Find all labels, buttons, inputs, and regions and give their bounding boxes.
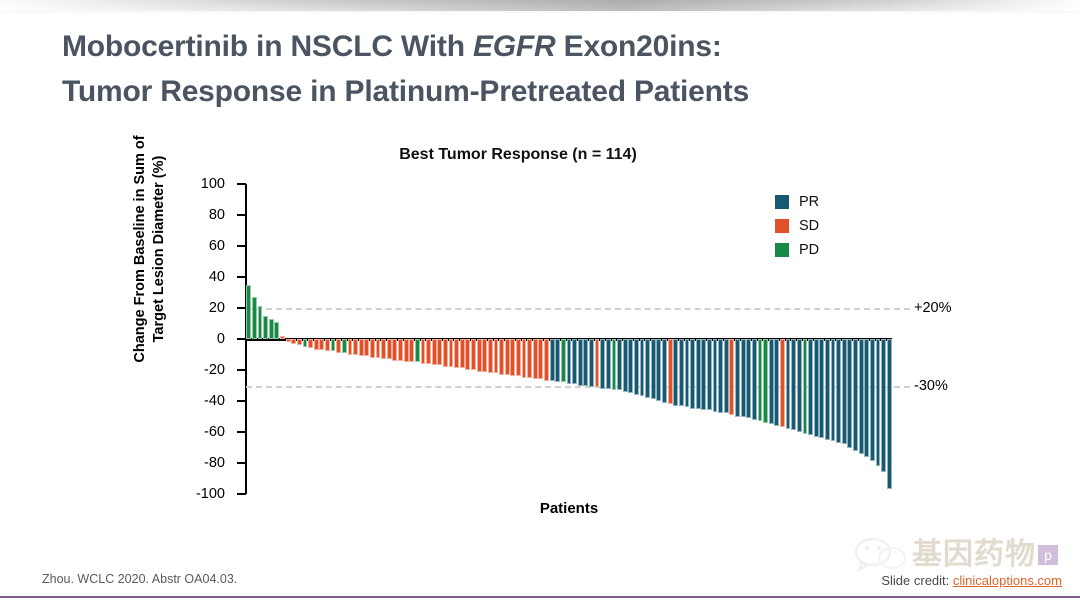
top-shadow [0,0,1080,14]
slide-credit-prefix: Slide credit: [881,573,953,588]
bar-sd [544,339,549,381]
y-tick-label: -60 [204,424,225,440]
bar-sd [668,339,673,404]
bar-pd [561,339,566,382]
legend-swatch [775,243,789,257]
bar-sd [471,339,476,370]
bar-sd [729,339,734,415]
citation: Zhou. WCLC 2020. Abstr OA04.03. [42,572,237,586]
bar-pr [814,339,819,437]
bar-sd [421,339,426,364]
y-axis-title: Change From Baseline in Sum of Target Le… [131,84,169,414]
bar-pr [555,339,560,382]
bar-pd [303,339,308,347]
legend-label: PR [799,194,819,210]
bar-pd [758,339,763,421]
bar-pr [864,339,869,457]
bar-pr [741,339,746,417]
y-tick: -40 [237,400,246,402]
bar-pr [572,339,577,384]
legend-item: SD [775,216,819,236]
y-tick-label: 100 [201,176,225,192]
bar-sd [297,339,302,345]
bar-sd [527,339,532,378]
reference-line-label: +20% [914,300,952,316]
slide: Mobocertinib in NSCLC With EGFR Exon20in… [0,0,1080,608]
y-tick: -80 [237,462,246,464]
bar-pd [342,339,347,353]
bar-pd [415,339,420,362]
bar-sd [348,339,353,355]
bar-sd [336,339,341,353]
bar-sd [510,339,515,376]
y-tick-label: 60 [209,238,225,254]
bar-sd [319,339,324,350]
bar-sd [460,339,465,368]
wechat-glyph [854,538,908,572]
bar-pr [842,339,847,444]
bar-pr [656,339,661,401]
bar-pd [274,322,279,339]
bar-sd [432,339,437,365]
bar-sd [359,339,364,356]
bar-pr [583,339,588,386]
bar-pr [690,339,695,409]
bar-pr [724,339,729,413]
watermark: 基因药物p [854,538,1058,572]
footer-divider [0,596,1080,599]
y-tick: -60 [237,431,246,433]
bar-pr [887,339,892,489]
legend-label: PD [799,242,819,258]
bar-sd [477,339,482,372]
bar-pr [567,339,572,384]
bar-sd [505,339,510,375]
bar-pd [258,306,263,339]
y-tick-label: -40 [204,393,225,409]
y-tick: 60 [237,245,246,247]
y-tick-label: 80 [209,207,225,223]
bar-pr [617,339,622,390]
bar-sd [314,339,319,350]
bar-pr [685,339,690,407]
bar-pr [628,339,633,393]
bar-pr [645,339,650,398]
bar-sd [376,339,381,358]
bar-sd [488,339,493,373]
bar-sd [437,339,442,365]
bar-sd [353,339,358,355]
bar-pr [853,339,858,451]
y-axis-title-line-2: Target Lesion Diameter (%) [150,84,169,414]
bar-pr [746,339,751,418]
legend-swatch [775,219,789,233]
bar-pr [707,339,712,410]
legend-swatch [775,195,789,209]
bar-sd [780,339,785,427]
wechat-icon [854,538,908,572]
bar-pr [578,339,583,386]
chart-title-text: Best Tumor Response (n = 114) [399,146,637,164]
bar-pd [612,339,617,390]
bar-pr [600,339,605,389]
y-tick: 80 [237,214,246,216]
bar-sd [308,339,313,348]
bar-pr [589,339,594,387]
bar-pr [718,339,723,413]
bar-pr [606,339,611,389]
bar-sd [381,339,386,359]
bar-sd [465,339,470,370]
bar-sd [482,339,487,372]
y-tick: 20 [237,307,246,309]
y-tick: -100 [237,493,246,495]
y-tick: -20 [237,369,246,371]
bar-sd [516,339,521,376]
y-tick: 100 [237,183,246,185]
bar-pr [701,339,706,410]
bar-pr [797,339,802,432]
bar-sd [398,339,403,361]
legend-item: PR [775,192,819,212]
bar-pr [836,339,841,443]
legend-label: SD [799,218,819,234]
title-gene-emphasis: EGFR [473,30,556,63]
y-axis-title-line-1: Change From Baseline in Sum of [131,84,150,414]
bar-pd [803,339,808,434]
bar-pr [825,339,830,440]
bar-pr [876,339,881,466]
bar-pr [881,339,886,472]
legend-item: PD [775,240,819,260]
bar-pd [763,339,768,423]
bar-pd [269,319,274,339]
chart-legend: PRSDPD [775,192,819,264]
watermark-text: 基因药物 [912,540,1036,570]
bar-sd [499,339,504,375]
bar-sd [325,339,330,351]
title-line-1: Mobocertinib in NSCLC With EGFR Exon20in… [62,24,1022,69]
bar-sd [370,339,375,358]
bar-sd [404,339,409,362]
bar-pd [252,297,257,339]
bar-pd [263,316,268,339]
bar-sd [494,339,499,373]
bar-pd [246,285,251,339]
bar-pr [774,339,779,426]
y-tick-label: -80 [204,455,225,471]
x-axis-title: Patients [246,500,892,517]
y-tick-label: 20 [209,300,225,316]
y-tick: 40 [237,276,246,278]
bar-pr [673,339,678,406]
page-title: Mobocertinib in NSCLC With EGFR Exon20in… [62,24,1022,114]
y-tick: 0 [237,338,246,340]
bar-pr [831,339,836,441]
y-tick-label: 40 [209,269,225,285]
y-tick-label: -20 [204,362,225,378]
bar-sd [392,339,397,361]
title-line-2: Tumor Response in Platinum-Pretreated Pa… [62,69,1022,114]
watermark-badge: p [1038,545,1058,565]
slide-credit: Slide credit: clinicaloptions.com [881,573,1062,588]
bar-pr [713,339,718,412]
slide-credit-link[interactable]: clinicaloptions.com [953,573,1062,588]
bar-pr [791,339,796,430]
bar-sd [286,339,291,342]
bar-pr [819,339,824,438]
bar-pd [331,339,336,351]
bar-sd [291,339,296,344]
bar-pr [870,339,875,461]
bar-pr [662,339,667,403]
bar-pr [786,339,791,429]
bar-sd [522,339,527,378]
bar-pr [679,339,684,406]
bar-pr [847,339,852,448]
bar-sd [533,339,538,379]
bar-sd [364,339,369,356]
title-part-b: Exon20ins: [556,30,722,63]
bar-sd [538,339,543,379]
bar-sd [409,339,414,362]
reference-line-label: -30% [914,378,948,394]
bar-pr [808,339,813,435]
bar-sd [454,339,459,368]
bar-pr [634,339,639,395]
title-part-a: Mobocertinib in NSCLC With [62,30,473,63]
bar-pr [859,339,864,454]
bar-pr [550,339,555,381]
bar-pr [651,339,656,399]
bar-pr [735,339,740,417]
bar-sd [449,339,454,367]
bar-pr [623,339,628,392]
bar-sd [280,336,285,339]
bar-pr [640,339,645,396]
bar-pr [752,339,757,420]
bar-sd [595,339,600,387]
bar-sd [443,339,448,367]
bar-pr [696,339,701,409]
waterfall-chart: Best Tumor Response (n = 114) Change Fro… [0,130,1080,530]
bar-pr [769,339,774,424]
bar-sd [387,339,392,359]
y-tick-label: -100 [196,486,225,502]
bar-sd [426,339,431,364]
y-tick-label: 0 [217,331,225,347]
